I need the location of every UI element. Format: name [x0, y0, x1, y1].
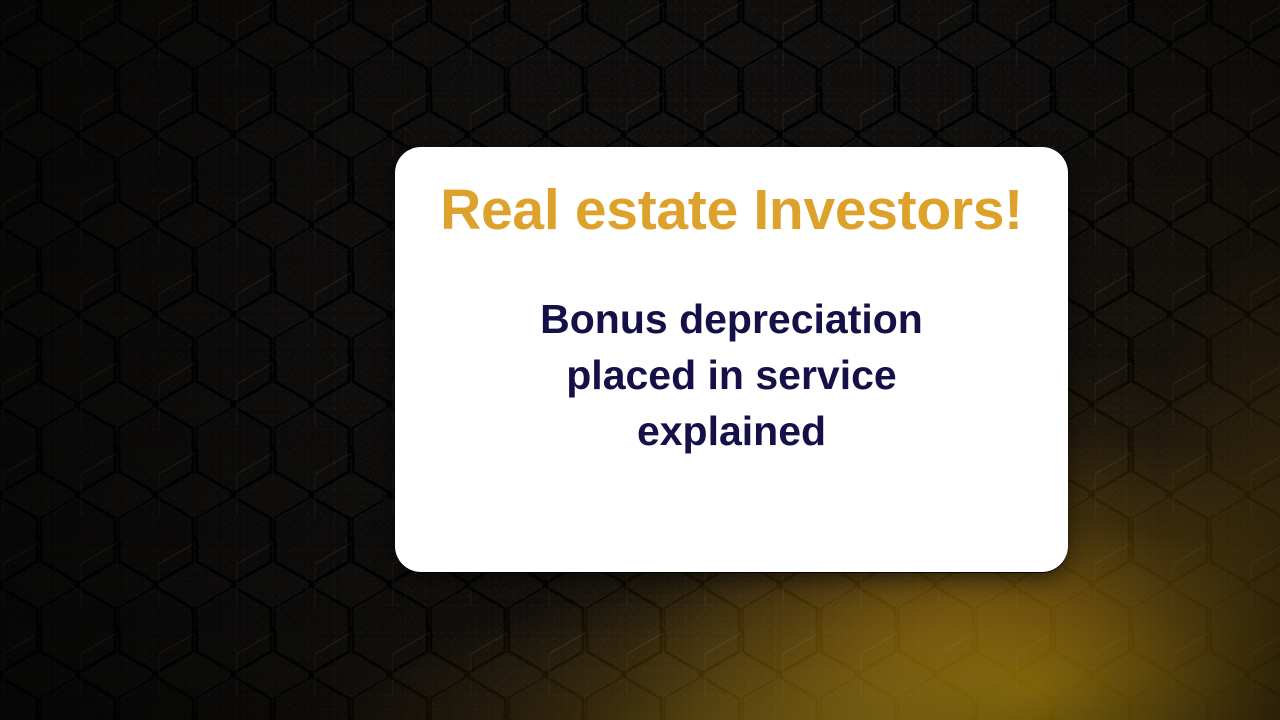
headline-text: Real estate Investors!: [440, 181, 1023, 240]
subheadline-text: Bonus depreciation placed in service exp…: [522, 292, 942, 459]
content-card: Real estate Investors! Bonus depreciatio…: [395, 147, 1068, 572]
slide-canvas: Real estate Investors! Bonus depreciatio…: [0, 0, 1280, 720]
